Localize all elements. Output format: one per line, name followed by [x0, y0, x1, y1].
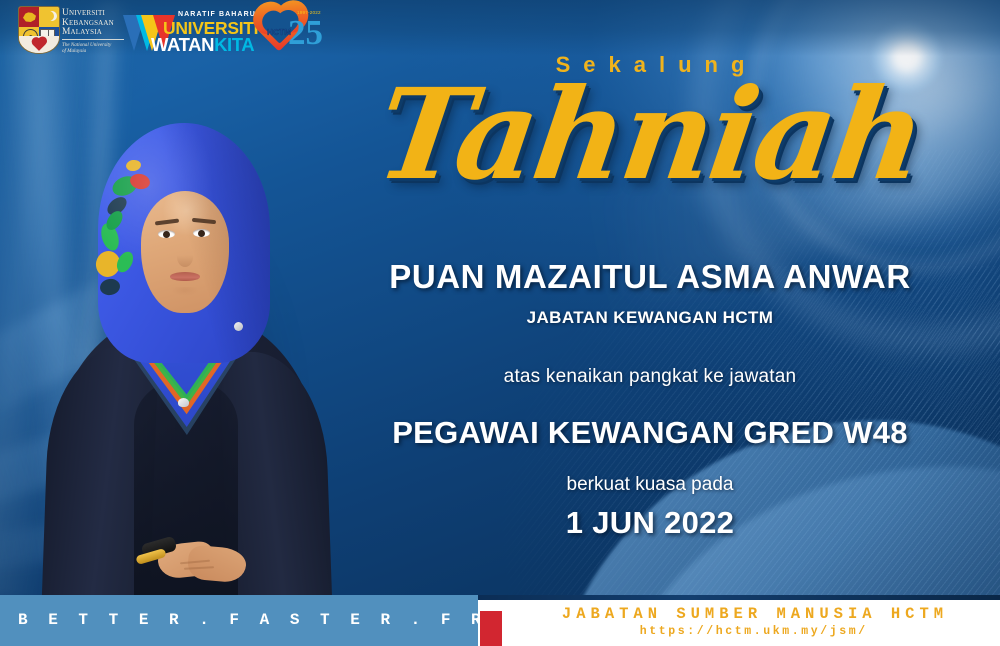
- crescent-moon-icon: [44, 11, 54, 21]
- recipient-name: PUAN MAZAITUL ASMA ANWAR: [340, 258, 960, 296]
- hctm-wordmark: HCTM: [267, 28, 291, 37]
- recipient-portrait-photo: [38, 38, 334, 613]
- recipient-department: JABATAN KEWANGAN HCTM: [340, 308, 960, 328]
- brooch-pin: [234, 322, 243, 331]
- footer-department-block: JABATAN SUMBER MANUSIA HCTM https://hctm…: [505, 600, 1000, 646]
- anniversary-years: 1997-2022: [297, 10, 321, 15]
- page-title: Tahniah: [331, 73, 969, 198]
- anniversary-number: 25: [288, 15, 323, 50]
- effective-date-label: berkuat kuasa pada: [340, 474, 960, 496]
- footer-tagline-bar: B E T T E R . F A S T E R . F R I E N D …: [0, 595, 478, 646]
- congratulations-poster: Universiti Kebangsaan Malaysia The Natio…: [0, 0, 1000, 646]
- crest-line-3: Malaysia: [62, 28, 124, 38]
- footer-red-accent: [480, 611, 502, 646]
- promotion-position: PEGAWAI KEWANGAN GRED W48: [340, 415, 960, 451]
- scarf-brooch: [178, 398, 189, 407]
- promotion-reason-label: atas kenaikan pangkat ke jawatan: [340, 366, 960, 388]
- footer-department-name: JABATAN SUMBER MANUSIA HCTM: [505, 605, 1000, 623]
- message-block: Sekalung Tahniah PUAN MAZAITUL ASMA ANWA…: [340, 0, 960, 600]
- effective-date: 1 JUN 2022: [340, 505, 960, 541]
- footer-website-url[interactable]: https://hctm.ukm.my/jsm/: [505, 625, 1000, 638]
